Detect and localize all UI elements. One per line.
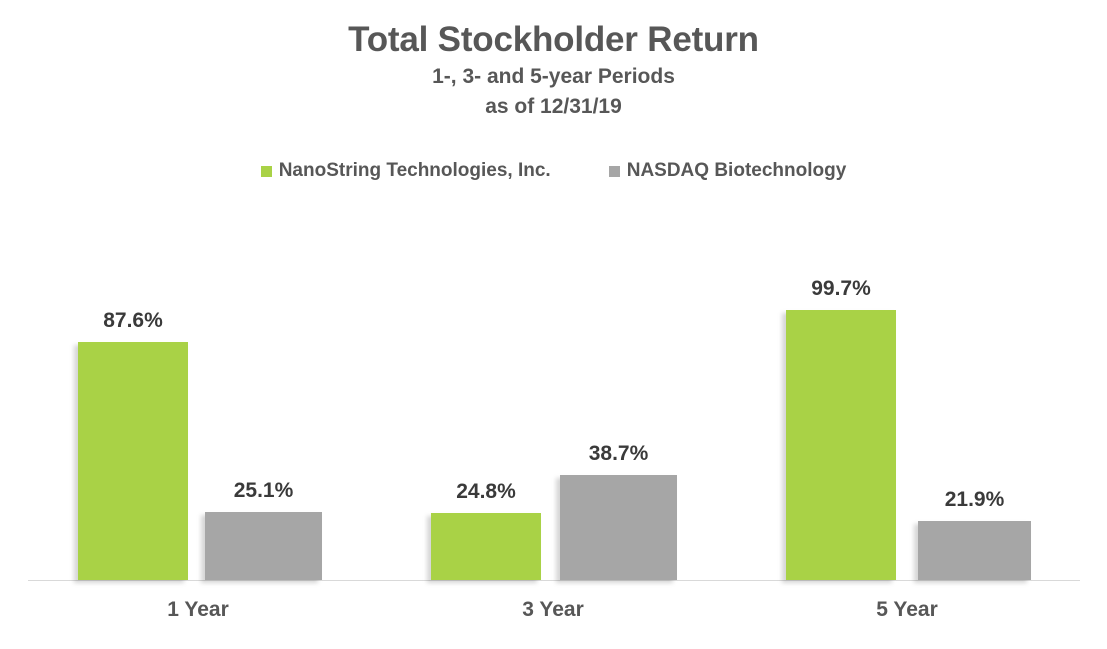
plot-area: 87.6% 25.1% 24.8% 38.7% 99.7% 21.9% [0,0,1107,649]
category-label-3-year: 3 Year [522,598,584,622]
bar-fill [560,475,677,580]
bar-fill [431,513,541,580]
bar-fill [786,310,896,580]
category-label-1-year: 1 Year [167,598,229,622]
category-label-5-year: 5 Year [876,598,938,622]
bar-fill [78,342,188,580]
bar-value-label: 25.1% [234,479,294,503]
bar-nasdaq-5-year[interactable]: 21.9% [918,521,1031,580]
bar-nanostring-5-year[interactable]: 99.7% [786,310,896,580]
bar-fill [918,521,1031,580]
bar-nanostring-3-year[interactable]: 24.8% [431,513,541,580]
bar-nasdaq-3-year[interactable]: 38.7% [560,475,677,580]
bar-value-label: 24.8% [456,480,516,504]
bar-nasdaq-1-year[interactable]: 25.1% [205,512,322,580]
bar-value-label: 99.7% [811,277,871,301]
chart-canvas: Total Stockholder Return 1-, 3- and 5-ye… [0,0,1107,649]
bar-value-label: 87.6% [103,309,163,333]
bar-fill [205,512,322,580]
bar-value-label: 38.7% [589,442,649,466]
bar-value-label: 21.9% [945,488,1005,512]
bar-nanostring-1-year[interactable]: 87.6% [78,342,188,580]
